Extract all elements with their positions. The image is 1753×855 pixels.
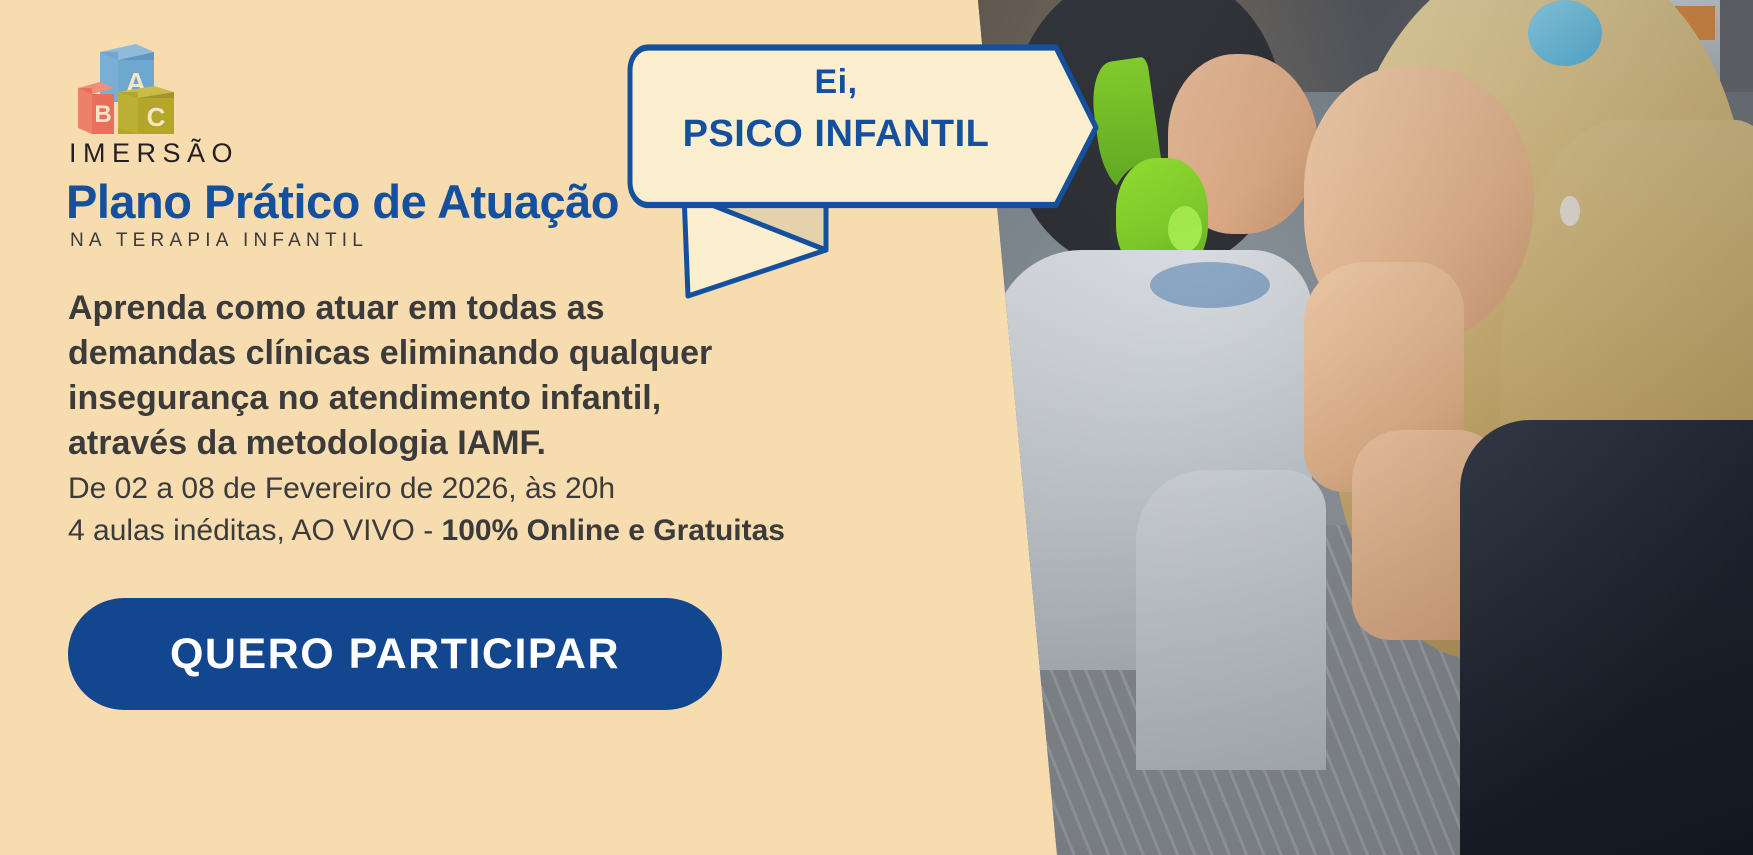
event-classes-line: 4 aulas inéditas, AO VIVO - 100% Online … [68,514,908,548]
bubble-line-2: PSICO INFANTIL [626,108,1046,160]
bubble-line-1: Ei, [626,56,1046,108]
abc-blocks-icon: A B C [70,30,190,135]
speech-bubble-text: Ei, PSICO INFANTIL [626,56,1046,160]
svg-text:C: C [147,102,166,132]
kicker-imersao: IMERSÃO [69,138,239,169]
description-line-4: através da metodologia IAMF. [68,421,808,466]
page-title: Plano Prático de Atuação [66,174,619,229]
subtitle-na-terapia-infantil: NA TERAPIA INFANTIL [70,230,368,252]
abc-blocks-logo: A B C [70,30,190,135]
description-line-2: demandas clínicas eliminando qualquer [68,331,808,376]
description-line-3: insegurança no atendimento infantil, [68,376,808,421]
svg-text:B: B [94,101,111,128]
quero-participar-button[interactable]: QUERO PARTICIPAR [68,598,722,710]
event-date-line: De 02 a 08 de Fevereiro de 2026, às 20h [68,472,908,506]
event-classes-highlight: 100% Online e Gratuitas [442,514,785,547]
promo-banner: A B C IMERSÃO Plano Prático de Atuação N… [0,0,1753,855]
description-paragraph: Aprenda como atuar em todas as demandas … [68,286,808,466]
event-classes-prefix: 4 aulas inéditas, AO VIVO - [68,514,442,547]
speech-bubble: Ei, PSICO INFANTIL [626,12,1126,302]
